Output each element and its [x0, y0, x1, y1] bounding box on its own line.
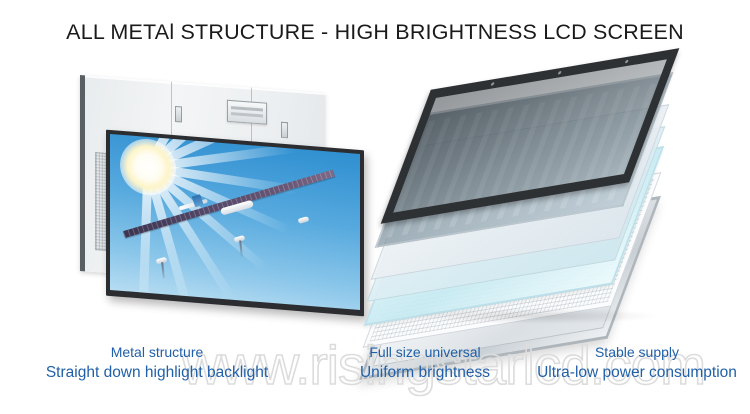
panel-clip [175, 106, 182, 123]
feature-column-1: Metal structure Straight down highlight … [12, 342, 302, 384]
feature-1-line-2: Straight down highlight backlight [12, 362, 302, 384]
panel-clip [281, 122, 288, 139]
page-title: ALL METAl STRUCTURE - HIGH BRIGHTNESS LC… [0, 20, 750, 45]
feature-column-3: Stable supply Ultra-low power consumptio… [524, 342, 750, 384]
product-banner: ALL METAl STRUCTURE - HIGH BRIGHTNESS LC… [0, 0, 750, 414]
screen-content [110, 134, 360, 310]
screw-icon [491, 82, 495, 86]
feature-column-2: Full size universal Uniform brightness [320, 342, 530, 384]
screw-icon [625, 60, 629, 64]
landing-strut [161, 262, 165, 278]
feature-3-line-1: Stable supply [524, 342, 750, 362]
lcd-display-photo [58, 78, 368, 328]
landing-strut [239, 240, 243, 256]
wall-mount-bracket [227, 100, 267, 125]
screw-icon [558, 71, 562, 75]
exploded-layer-diagram [386, 72, 706, 328]
solar-aircraft [116, 168, 356, 297]
feature-1-line-1: Metal structure [12, 342, 302, 362]
display-bezel [106, 130, 364, 317]
panel-top-highlight [85, 75, 325, 95]
solar-wing [123, 170, 335, 238]
feature-3-line-2: Ultra-low power consumption [524, 362, 750, 384]
engine-pod [297, 216, 309, 224]
drop-shadow [410, 308, 660, 324]
feature-2-line-1: Full size universal [320, 342, 530, 362]
feature-2-line-2: Uniform brightness [320, 362, 530, 384]
feature-captions: Metal structure Straight down highlight … [0, 342, 750, 398]
